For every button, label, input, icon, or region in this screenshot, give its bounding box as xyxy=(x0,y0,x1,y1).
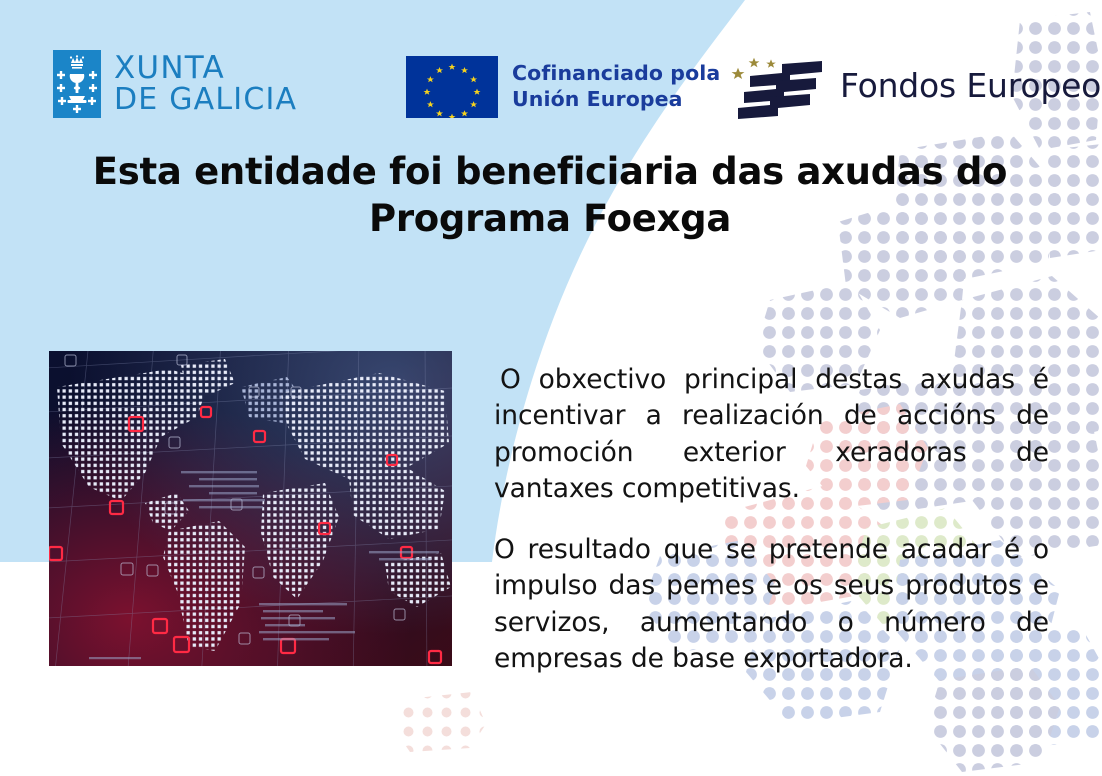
page-title-line1: Esta entidade foi beneficiaria das axuda… xyxy=(80,148,1020,195)
fondos-europeos-stairs-icon xyxy=(722,50,830,120)
european-union-flag-icon xyxy=(406,56,498,118)
xunta-wordmark-line1: XUNTA xyxy=(114,53,297,85)
poster-root: XUNTA DE GALICIA xyxy=(0,0,1102,776)
page-title: Esta entidade foi beneficiaria das axuda… xyxy=(80,148,1020,243)
eu-wordmark: Cofinanciado pola Unión Europea xyxy=(512,61,720,112)
european-union-logo: Cofinanciado pola Unión Europea xyxy=(406,56,720,118)
logo-row: XUNTA DE GALICIA xyxy=(0,0,1102,140)
world-map-network-photo xyxy=(49,351,452,666)
fondos-europeos-logo: Fondos Europeos xyxy=(722,50,1102,120)
body-paragraph-1: O obxectivo principal destas axudas é in… xyxy=(494,362,1049,507)
page-title-line2: Programa Foexga xyxy=(80,195,1020,242)
xunta-wordmark: XUNTA DE GALICIA xyxy=(114,53,297,115)
xunta-wordmark-line2: DE GALICIA xyxy=(114,85,297,116)
xunta-de-galicia-logo: XUNTA DE GALICIA xyxy=(53,50,297,118)
galicia-coat-of-arms-icon xyxy=(53,50,101,118)
eu-wordmark-line1: Cofinanciado pola xyxy=(512,61,720,87)
body-copy: O obxectivo principal destas axudas é in… xyxy=(494,362,1049,677)
eu-wordmark-line2: Unión Europea xyxy=(512,87,720,113)
fondos-europeos-wordmark: Fondos Europeos xyxy=(840,66,1102,105)
body-paragraph-2: O resultado que se pretende acadar é o i… xyxy=(494,532,1049,677)
